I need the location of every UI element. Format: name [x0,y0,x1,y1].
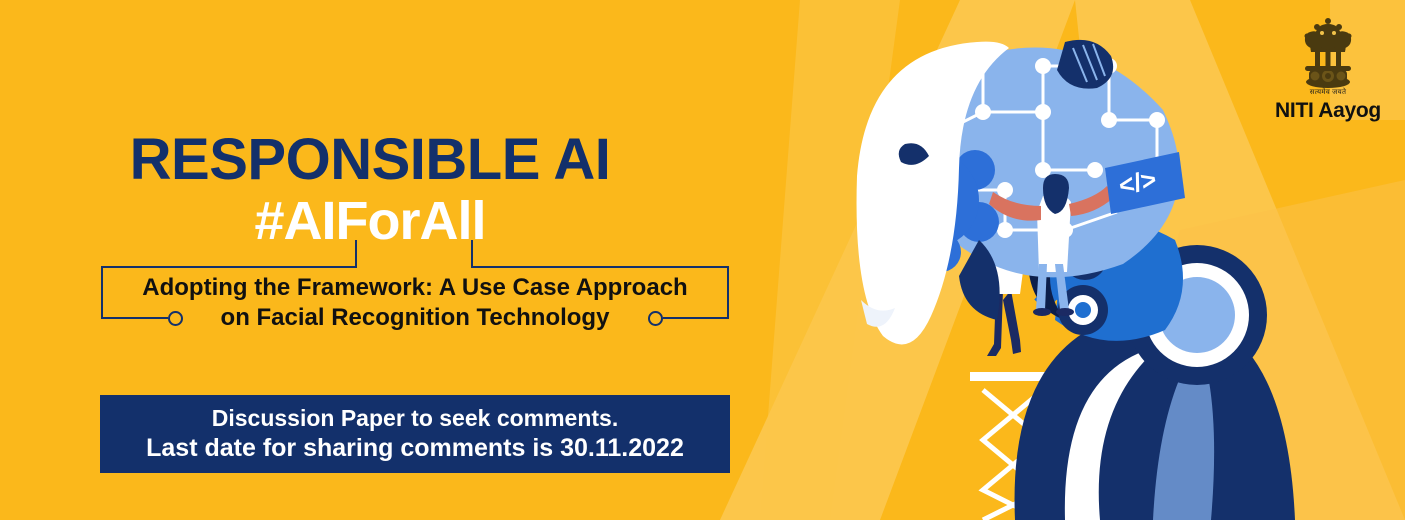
bracket-tick-right [471,240,473,268]
bracket-tick-left [355,240,357,268]
state-emblem-icon [1297,18,1359,92]
notice-box: Discussion Paper to seek comments. Last … [100,395,730,473]
bracket-top-left [101,266,357,268]
notice-line-2: Last date for sharing comments is 30.11.… [146,434,684,463]
notice-line-1: Discussion Paper to seek comments. [212,405,619,432]
subtitle-bracket: Adopting the Framework: A Use Case Appro… [101,240,729,325]
page-subtitle: Adopting the Framework: A Use Case Appro… [101,273,729,333]
bracket-top-right [473,266,729,268]
niti-aayog-logo: सत्यमेव जयते NITI Aayog [1273,18,1383,123]
text-column: RESPONSIBLE AI #AIForAll Adopting the Fr… [0,0,780,520]
emblem-motto: सत्यमेव जयते [1310,88,1347,97]
page-title: RESPONSIBLE AI [0,131,740,189]
responsible-ai-banner: </> RESPONSIBLE AI #AIForAll Adopting th… [0,0,1405,520]
logo-wordmark: NITI Aayog [1275,99,1381,123]
